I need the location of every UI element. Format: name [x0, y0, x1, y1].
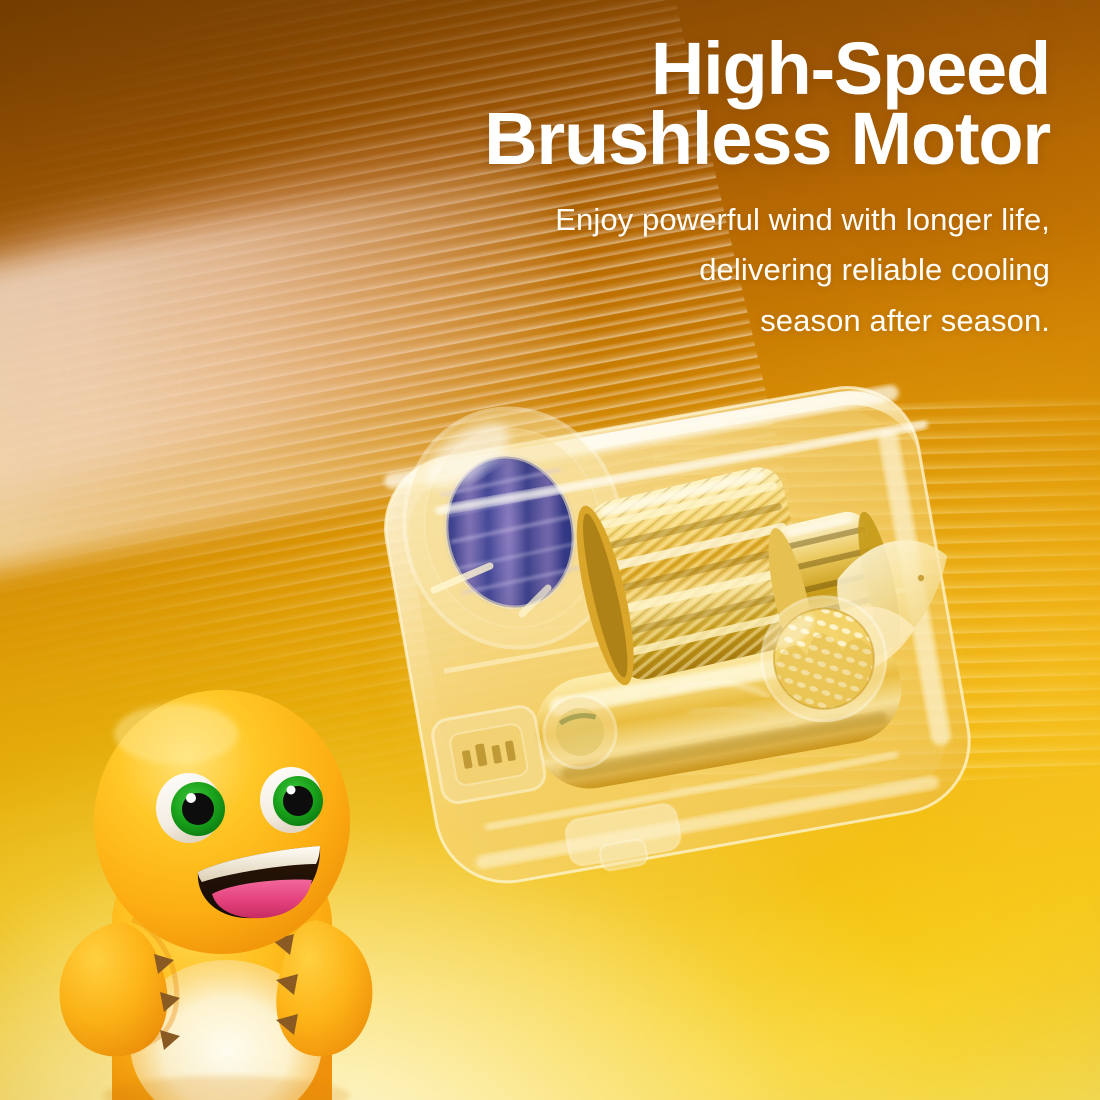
headline-line-2: Brushless Motor: [330, 104, 1050, 174]
subtitle-line-3: season after season.: [330, 296, 1050, 346]
promo-banner: High-Speed Brushless Motor Enjoy powerfu…: [0, 0, 1100, 1100]
page-title: High-Speed Brushless Motor: [330, 34, 1050, 173]
copy-block: High-Speed Brushless Motor Enjoy powerfu…: [330, 34, 1050, 346]
mascot-arm-left: [60, 920, 177, 1056]
subtitle: Enjoy powerful wind with longer life, de…: [330, 195, 1050, 346]
embossed-plate: [430, 704, 547, 805]
motor-illustration: [372, 360, 982, 920]
subtitle-line-2: delivering reliable cooling: [330, 245, 1050, 295]
mascot: [26, 672, 416, 1100]
motor-module: [372, 360, 982, 920]
mascot-illustration: [26, 672, 416, 1100]
subtitle-line-1: Enjoy powerful wind with longer life,: [330, 195, 1050, 245]
